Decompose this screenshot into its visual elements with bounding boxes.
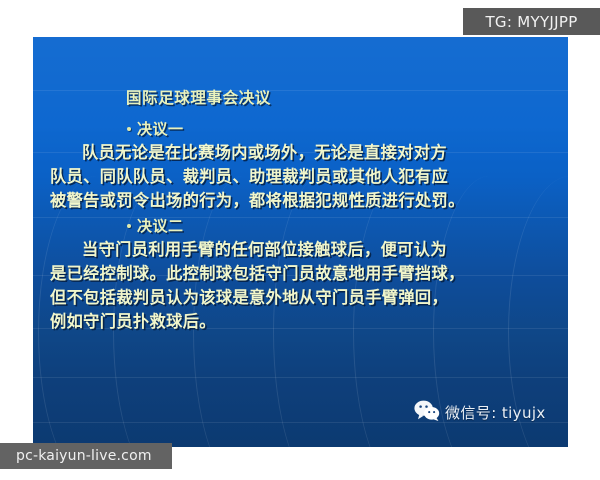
paragraph-line: 队员、同队队员、裁判员、助理裁判员或其他人犯有应: [50, 165, 560, 189]
wechat-id-label: 微信号: tiyujx: [445, 402, 546, 423]
paragraph-line: 队员无论是在比赛场内或场外，无论是直接对对方: [50, 141, 560, 165]
wechat-icon: [414, 400, 440, 425]
wechat-credit: 微信号: tiyujx: [414, 400, 546, 425]
paragraph-line: 当守门员利用手臂的任何部位接触球后，便可认为: [50, 238, 560, 262]
paragraph-1: 队员无论是在比赛场内或场外，无论是直接对对方 队员、同队队员、裁判员、助理裁判员…: [50, 141, 560, 213]
telegram-watermark-badge: TG: MYYJJPP: [463, 8, 600, 35]
bullet-label-1: 决议一: [137, 118, 184, 139]
paragraph-line: 被警告或罚令出场的行为，都将根据犯规性质进行处罚。: [50, 189, 560, 213]
slide-content: 国际足球理事会决议 决议一 队员无论是在比赛场内或场外，无论是直接对对方 队员、…: [33, 37, 568, 447]
bullet-dot-icon: [127, 127, 131, 131]
bullet-dot-icon: [127, 224, 131, 228]
bullet-heading-2: 决议二: [127, 215, 184, 236]
bullet-heading-1: 决议一: [127, 118, 184, 139]
bullet-label-2: 决议二: [137, 215, 184, 236]
slide-title: 国际足球理事会决议: [126, 86, 271, 108]
paragraph-line: 例如守门员扑救球后。: [50, 310, 560, 334]
telegram-watermark-text: TG: MYYJJPP: [485, 13, 577, 31]
paragraph-line: 但不包括裁判员认为该球是意外地从守门员手臂弹回，: [50, 286, 560, 310]
presentation-slide: 国际足球理事会决议 决议一 队员无论是在比赛场内或场外，无论是直接对对方 队员、…: [33, 37, 568, 447]
paragraph-line: 是已经控制球。此控制球包括守门员故意地用手臂挡球，: [50, 262, 560, 286]
screenshot-root: 国际足球理事会决议 决议一 队员无论是在比赛场内或场外，无论是直接对对方 队员、…: [0, 0, 600, 480]
site-watermark-badge: pc-kaiyun-live.com: [0, 443, 172, 469]
paragraph-2: 当守门员利用手臂的任何部位接触球后，便可认为 是已经控制球。此控制球包括守门员故…: [50, 238, 560, 334]
site-watermark-text: pc-kaiyun-live.com: [16, 448, 152, 464]
